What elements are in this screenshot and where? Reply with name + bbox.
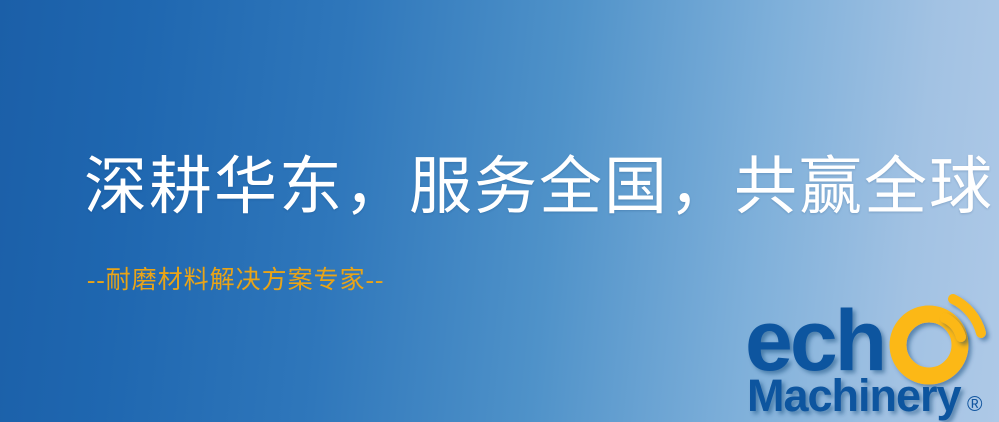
banner-subtitle: --耐磨材料解决方案专家-- [87,266,384,296]
banner-headline: 深耕华东，服务全国，共赢全球 [84,152,994,223]
promo-banner: 深耕华东，服务全国，共赢全球 --耐磨材料解决方案专家-- ech Machin… [0,0,999,422]
echo-machinery-logo: ech Machinery ® [745,292,999,422]
logo-registered-mark: ® [967,393,983,416]
logo-tagline-machinery: Machinery [747,370,962,421]
